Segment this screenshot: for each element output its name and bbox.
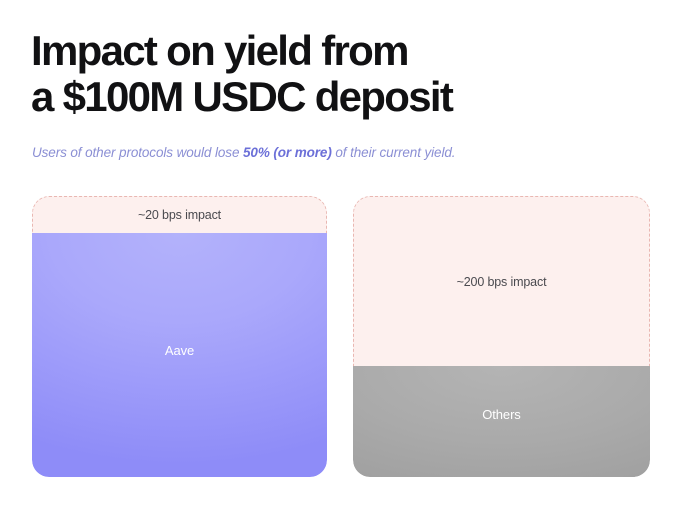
impact-label-others: ~200 bps impact xyxy=(457,275,547,289)
value-block-others: Others xyxy=(353,366,650,477)
chart-column-aave: ~20 bps impact Aave xyxy=(32,196,327,477)
page-title-line-2: a $100M USDC deposit xyxy=(31,74,631,120)
page-subtitle-after: of their current yield. xyxy=(332,145,456,160)
value-label-aave: Aave xyxy=(165,343,194,358)
value-label-others: Others xyxy=(482,407,520,422)
impact-band-others: ~200 bps impact xyxy=(353,196,650,367)
impact-band-aave: ~20 bps impact xyxy=(32,196,327,234)
comparison-chart: ~20 bps impact Aave ~200 bps impact Othe… xyxy=(0,196,680,478)
page-title-line-1: Impact on yield from xyxy=(31,28,631,74)
page-title: Impact on yield from a $100M USDC deposi… xyxy=(31,28,631,120)
impact-label-aave: ~20 bps impact xyxy=(138,208,221,222)
page-subtitle-before: Users of other protocols would lose xyxy=(32,145,243,160)
page-subtitle: Users of other protocols would lose 50% … xyxy=(32,144,455,162)
chart-column-others: ~200 bps impact Others xyxy=(353,196,650,477)
slide-root: Impact on yield from a $100M USDC deposi… xyxy=(0,0,680,510)
value-block-aave: Aave xyxy=(32,233,327,477)
page-subtitle-accent: 50% (or more) xyxy=(243,145,332,160)
